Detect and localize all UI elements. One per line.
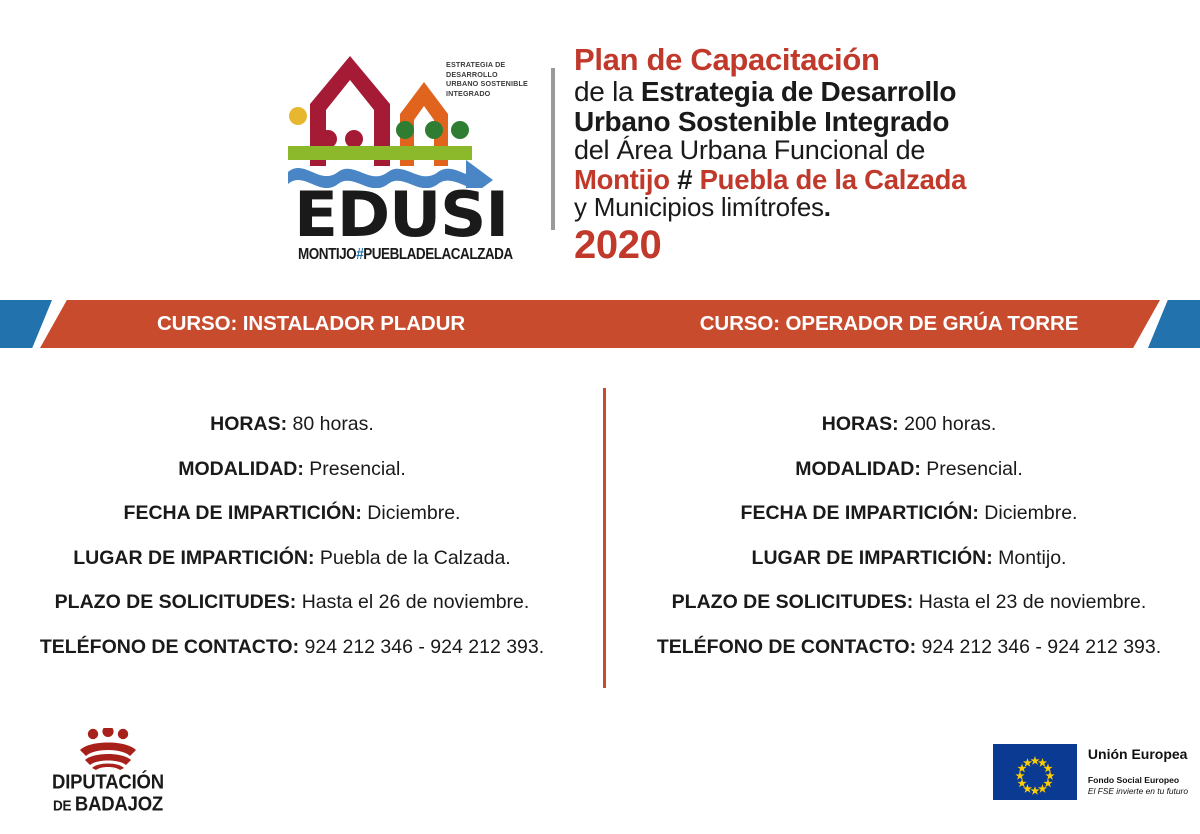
eu-text-block: Unión Europea Fondo Social Europeo El FS… — [1088, 747, 1188, 796]
logo-dot-red-2 — [345, 130, 363, 148]
course-detail-value: Montijo. — [998, 547, 1066, 569]
logo-dot-green-3 — [451, 121, 469, 139]
course-detail-value: Diciembre. — [367, 502, 460, 524]
header-line-urbano: Urbano Sostenible Integrado — [574, 107, 1174, 137]
header-year: 2020 — [574, 224, 1174, 266]
header-line-estrategia-light: de la — [574, 76, 641, 107]
course-detail-value: Diciembre. — [984, 502, 1077, 524]
course-titles-banner: CURSO: INSTALADOR PLADUR CURSO: OPERADOR… — [0, 300, 1200, 348]
course-detail-row: TELÉFONO DE CONTACTO: 924 212 346 - 924 … — [40, 638, 544, 658]
course-detail-key: HORAS: — [822, 413, 899, 435]
logo-dot-red-1 — [319, 130, 337, 148]
course-detail-row: LUGAR DE IMPARTICIÓN: Puebla de la Calza… — [73, 549, 510, 569]
course-detail-key: FECHA DE IMPARTICIÓN: — [124, 502, 362, 524]
course-column-instalador-pladur: HORAS: 80 horas.MODALIDAD: Presencial.FE… — [0, 388, 600, 688]
diputacion-line2: DE BADAJOZ — [28, 794, 188, 815]
header-line-municipios: Montijo # Puebla de la Calzada — [574, 165, 1174, 194]
course-columns-divider — [603, 388, 606, 688]
course-detail-key: MODALIDAD: — [178, 458, 304, 480]
diputacion-line1: DIPUTACIÓN — [28, 772, 188, 793]
header-line-estrategia: de la Estrategia de Desarrollo — [574, 77, 1174, 107]
eu-tagline: El FSE invierte en tu futuro — [1088, 786, 1188, 797]
diputacion-crown-icon — [68, 728, 148, 770]
header-line-limitrofes: y Municipios limítrofes. — [574, 194, 1174, 222]
course-detail-row: HORAS: 80 horas. — [210, 415, 374, 435]
course-detail-key: PLAZO DE SOLICITUDES: — [55, 591, 297, 613]
course-detail-row: PLAZO DE SOLICITUDES: Hasta el 26 de nov… — [55, 593, 530, 613]
header-line-plan: Plan de Capacitación — [574, 44, 1174, 77]
logo-tagline: ESTRATEGIA DE DESARROLLO URBANO SOSTENIB… — [446, 60, 528, 98]
course-detail-value: Hasta el 26 de noviembre. — [302, 591, 530, 613]
course-detail-row: MODALIDAD: Presencial. — [178, 460, 406, 480]
union-europea-logo: Unión Europea Fondo Social Europeo El FS… — [993, 744, 1188, 800]
banner-title-operador-grua-torre: CURSO: OPERADOR DE GRÚA TORRE — [604, 300, 1160, 348]
header: ESTRATEGIA DE DESARROLLO URBANO SOSTENIB… — [0, 0, 1200, 292]
course-detail-value: Presencial. — [309, 458, 405, 480]
header-title-block: Plan de Capacitación de la Estrategia de… — [574, 44, 1174, 266]
course-detail-row: HORAS: 200 horas. — [822, 415, 997, 435]
edusi-wordmark-text: EDUSI — [294, 186, 502, 245]
header-puebla: Puebla de la Calzada — [700, 164, 967, 195]
course-detail-key: LUGAR DE IMPARTICIÓN: — [73, 547, 314, 569]
course-detail-key: TELÉFONO DE CONTACTO: — [657, 636, 916, 658]
logo-dot-green-1 — [396, 121, 414, 139]
edusi-wordmark: EDUSI MONTIJO#PUEBLADELACALZADA — [298, 186, 498, 261]
course-detail-row: FECHA DE IMPARTICIÓN: Diciembre. — [124, 504, 461, 524]
course-detail-value: 924 212 346 - 924 212 393. — [922, 636, 1162, 658]
header-vertical-divider — [551, 68, 555, 230]
diputacion-line2-badajoz: BADAJOZ — [75, 791, 163, 815]
course-detail-value: Puebla de la Calzada. — [320, 547, 511, 569]
diputacion-de-badajoz-logo: DIPUTACIÓN DE BADAJOZ — [28, 728, 188, 814]
edusi-muni-montijo: MONTIJO — [298, 245, 356, 263]
edusi-municipalities: MONTIJO#PUEBLADELACALZADA — [298, 245, 498, 263]
eu-subtitle: Fondo Social Europeo — [1088, 775, 1188, 785]
logo-dot-green-2 — [425, 121, 443, 139]
course-detail-value: 924 212 346 - 924 212 393. — [305, 636, 545, 658]
course-detail-row: TELÉFONO DE CONTACTO: 924 212 346 - 924 … — [657, 638, 1161, 658]
header-limitrofes-dot: . — [824, 192, 831, 222]
edusi-muni-puebla: PUEBLADELACALZADA — [363, 245, 512, 263]
course-detail-row: MODALIDAD: Presencial. — [795, 460, 1023, 480]
course-detail-value: Hasta el 23 de noviembre. — [919, 591, 1147, 613]
header-line-estrategia-bold: Estrategia de Desarrollo — [641, 76, 956, 107]
course-detail-key: FECHA DE IMPARTICIÓN: — [741, 502, 979, 524]
banner-title-instalador-pladur: CURSO: INSTALADOR PLADUR — [40, 300, 604, 348]
course-detail-key: PLAZO DE SOLICITUDES: — [672, 591, 914, 613]
footer: DIPUTACIÓN DE BADAJOZ — [0, 690, 1200, 834]
course-detail-value: 200 horas. — [904, 413, 996, 435]
course-detail-key: HORAS: — [210, 413, 287, 435]
course-details-section: HORAS: 80 horas.MODALIDAD: Presencial.FE… — [0, 388, 1200, 688]
eu-flag-icon — [993, 744, 1077, 800]
course-detail-row: FECHA DE IMPARTICIÓN: Diciembre. — [741, 504, 1078, 524]
header-montijo: Montijo — [574, 164, 670, 195]
course-detail-key: TELÉFONO DE CONTACTO: — [40, 636, 299, 658]
logo-dot-yellow — [289, 107, 307, 125]
edusi-logo-mark: ESTRATEGIA DE DESARROLLO URBANO SOSTENIB… — [288, 38, 518, 188]
banner-orange-bar: CURSO: INSTALADOR PLADUR CURSO: OPERADOR… — [40, 300, 1160, 348]
course-detail-key: MODALIDAD: — [795, 458, 921, 480]
course-detail-value: Presencial. — [926, 458, 1022, 480]
logo-green-bar — [288, 146, 472, 160]
course-detail-row: LUGAR DE IMPARTICIÓN: Montijo. — [752, 549, 1067, 569]
header-limitrofes-text: y Municipios limítrofes — [574, 192, 824, 222]
diputacion-line2-de: DE — [53, 797, 75, 814]
course-detail-key: LUGAR DE IMPARTICIÓN: — [752, 547, 993, 569]
eu-title: Unión Europea — [1088, 747, 1188, 762]
course-detail-value: 80 horas. — [293, 413, 374, 435]
course-column-operador-grua-torre: HORAS: 200 horas.MODALIDAD: Presencial.F… — [600, 388, 1200, 688]
header-line-area: del Área Urbana Funcional de — [574, 136, 1174, 165]
edusi-logo: ESTRATEGIA DE DESARROLLO URBANO SOSTENIB… — [288, 38, 536, 263]
course-detail-row: PLAZO DE SOLICITUDES: Hasta el 23 de nov… — [672, 593, 1147, 613]
header-hash: # — [677, 164, 692, 195]
